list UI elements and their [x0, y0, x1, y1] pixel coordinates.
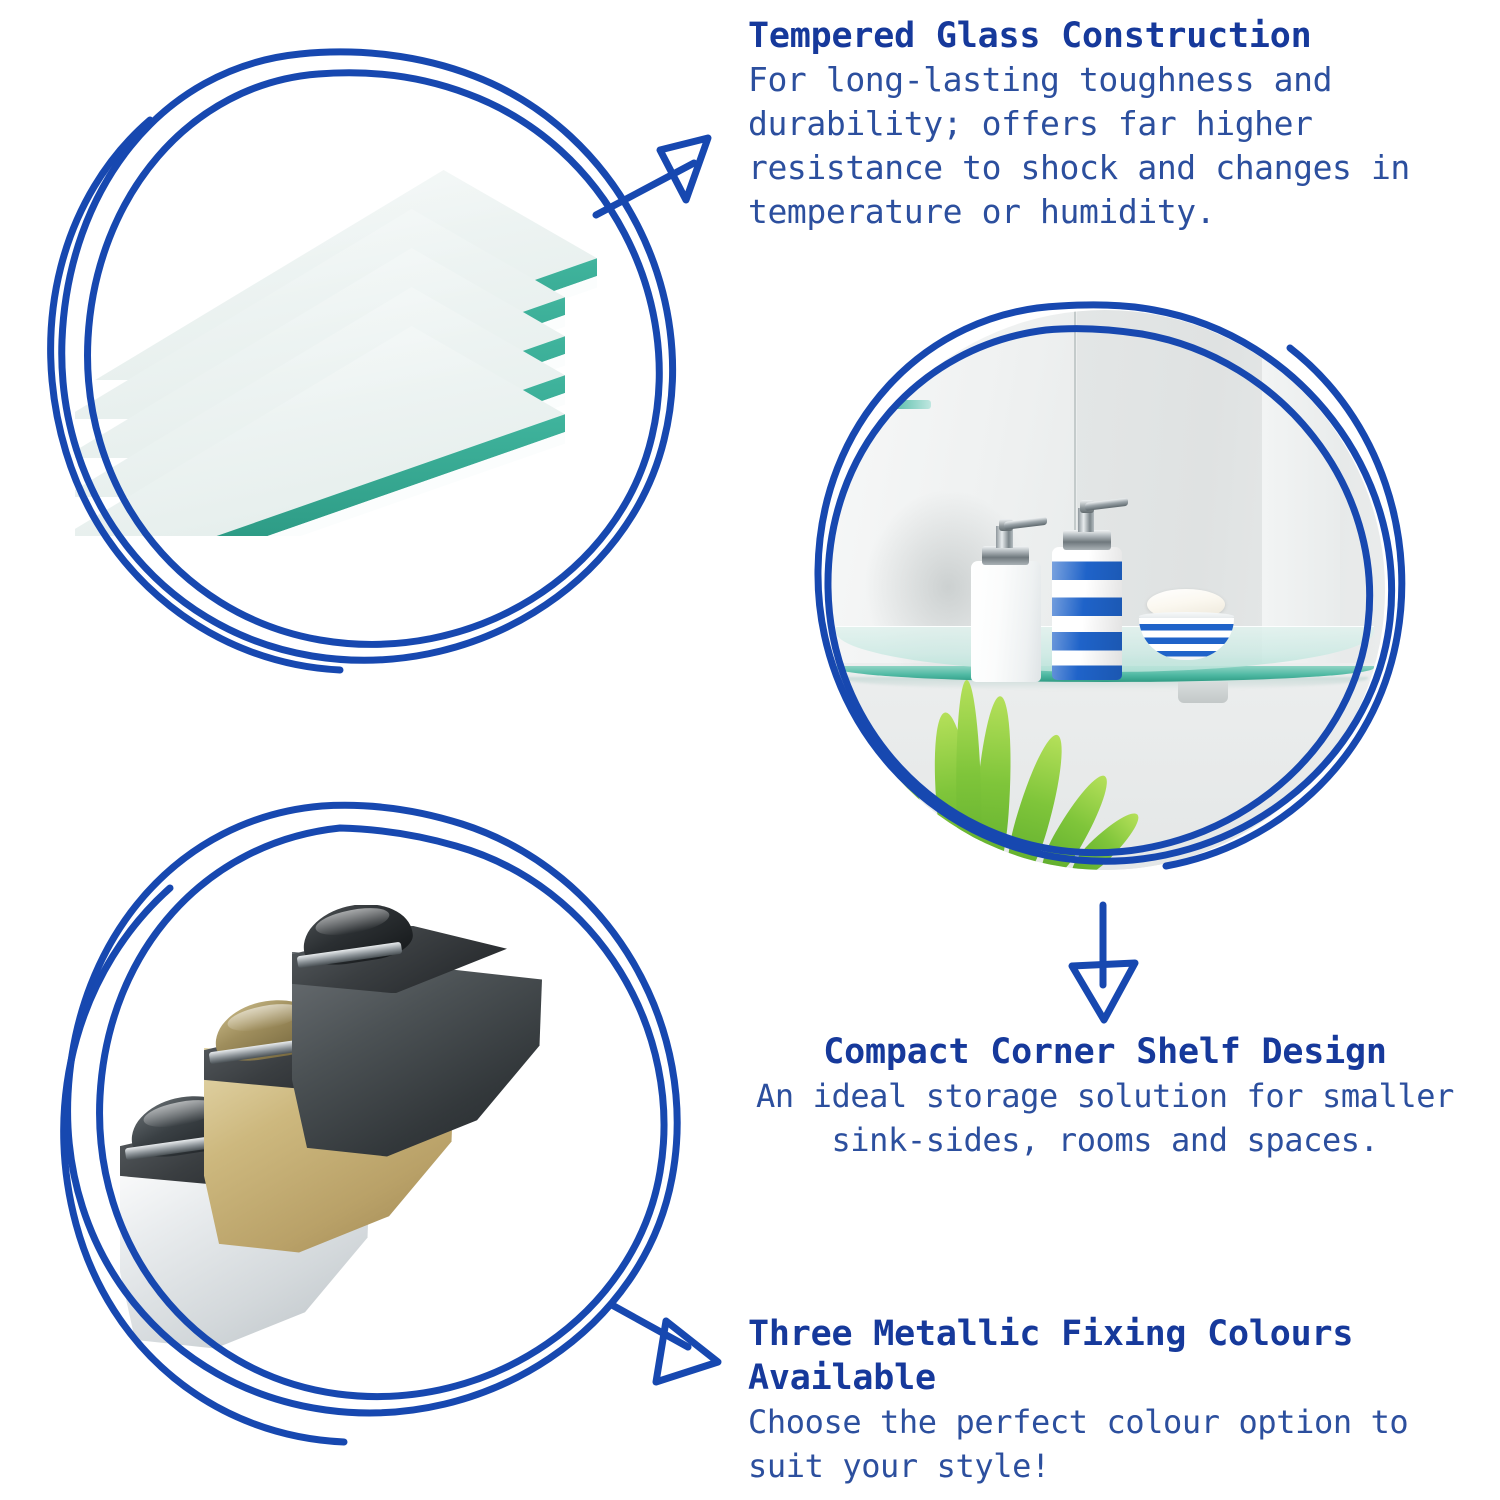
feature-heading-corner-design: Compact Corner Shelf Design [745, 1030, 1465, 1074]
shelf-brackets-photo [120, 905, 680, 1355]
feature-body-fixing-colours: Choose the perfect colour option to suit… [748, 1400, 1468, 1488]
bracket-black [292, 905, 542, 1165]
infographic-canvas: Tempered Glass Construction For long-las… [0, 0, 1500, 1500]
feature-block-corner-design: Compact Corner Shelf Design An ideal sto… [745, 1030, 1465, 1162]
soap-dish [1139, 593, 1234, 660]
feature-block-tempered-glass: Tempered Glass Construction For long-las… [748, 14, 1448, 234]
arrow-corner [1072, 905, 1135, 1020]
corner-shelf-photo [825, 310, 1385, 870]
feature-heading-fixing-colours: Three Metallic Fixing Colours Available [748, 1312, 1468, 1400]
spider-plant [836, 680, 1250, 870]
feature-body-corner-design: An ideal storage solution for smaller si… [745, 1074, 1465, 1162]
soap-dispenser-striped [1052, 495, 1122, 680]
glass-sliver-detail [864, 400, 931, 409]
tempered-glass-photo [75, 170, 635, 550]
soap-dispenser-white [971, 514, 1041, 682]
feature-body-tempered-glass: For long-lasting toughness and durabilit… [748, 58, 1448, 234]
feature-block-fixing-colours: Three Metallic Fixing Colours Available … [748, 1312, 1468, 1488]
feature-heading-tempered-glass: Tempered Glass Construction [748, 14, 1448, 58]
